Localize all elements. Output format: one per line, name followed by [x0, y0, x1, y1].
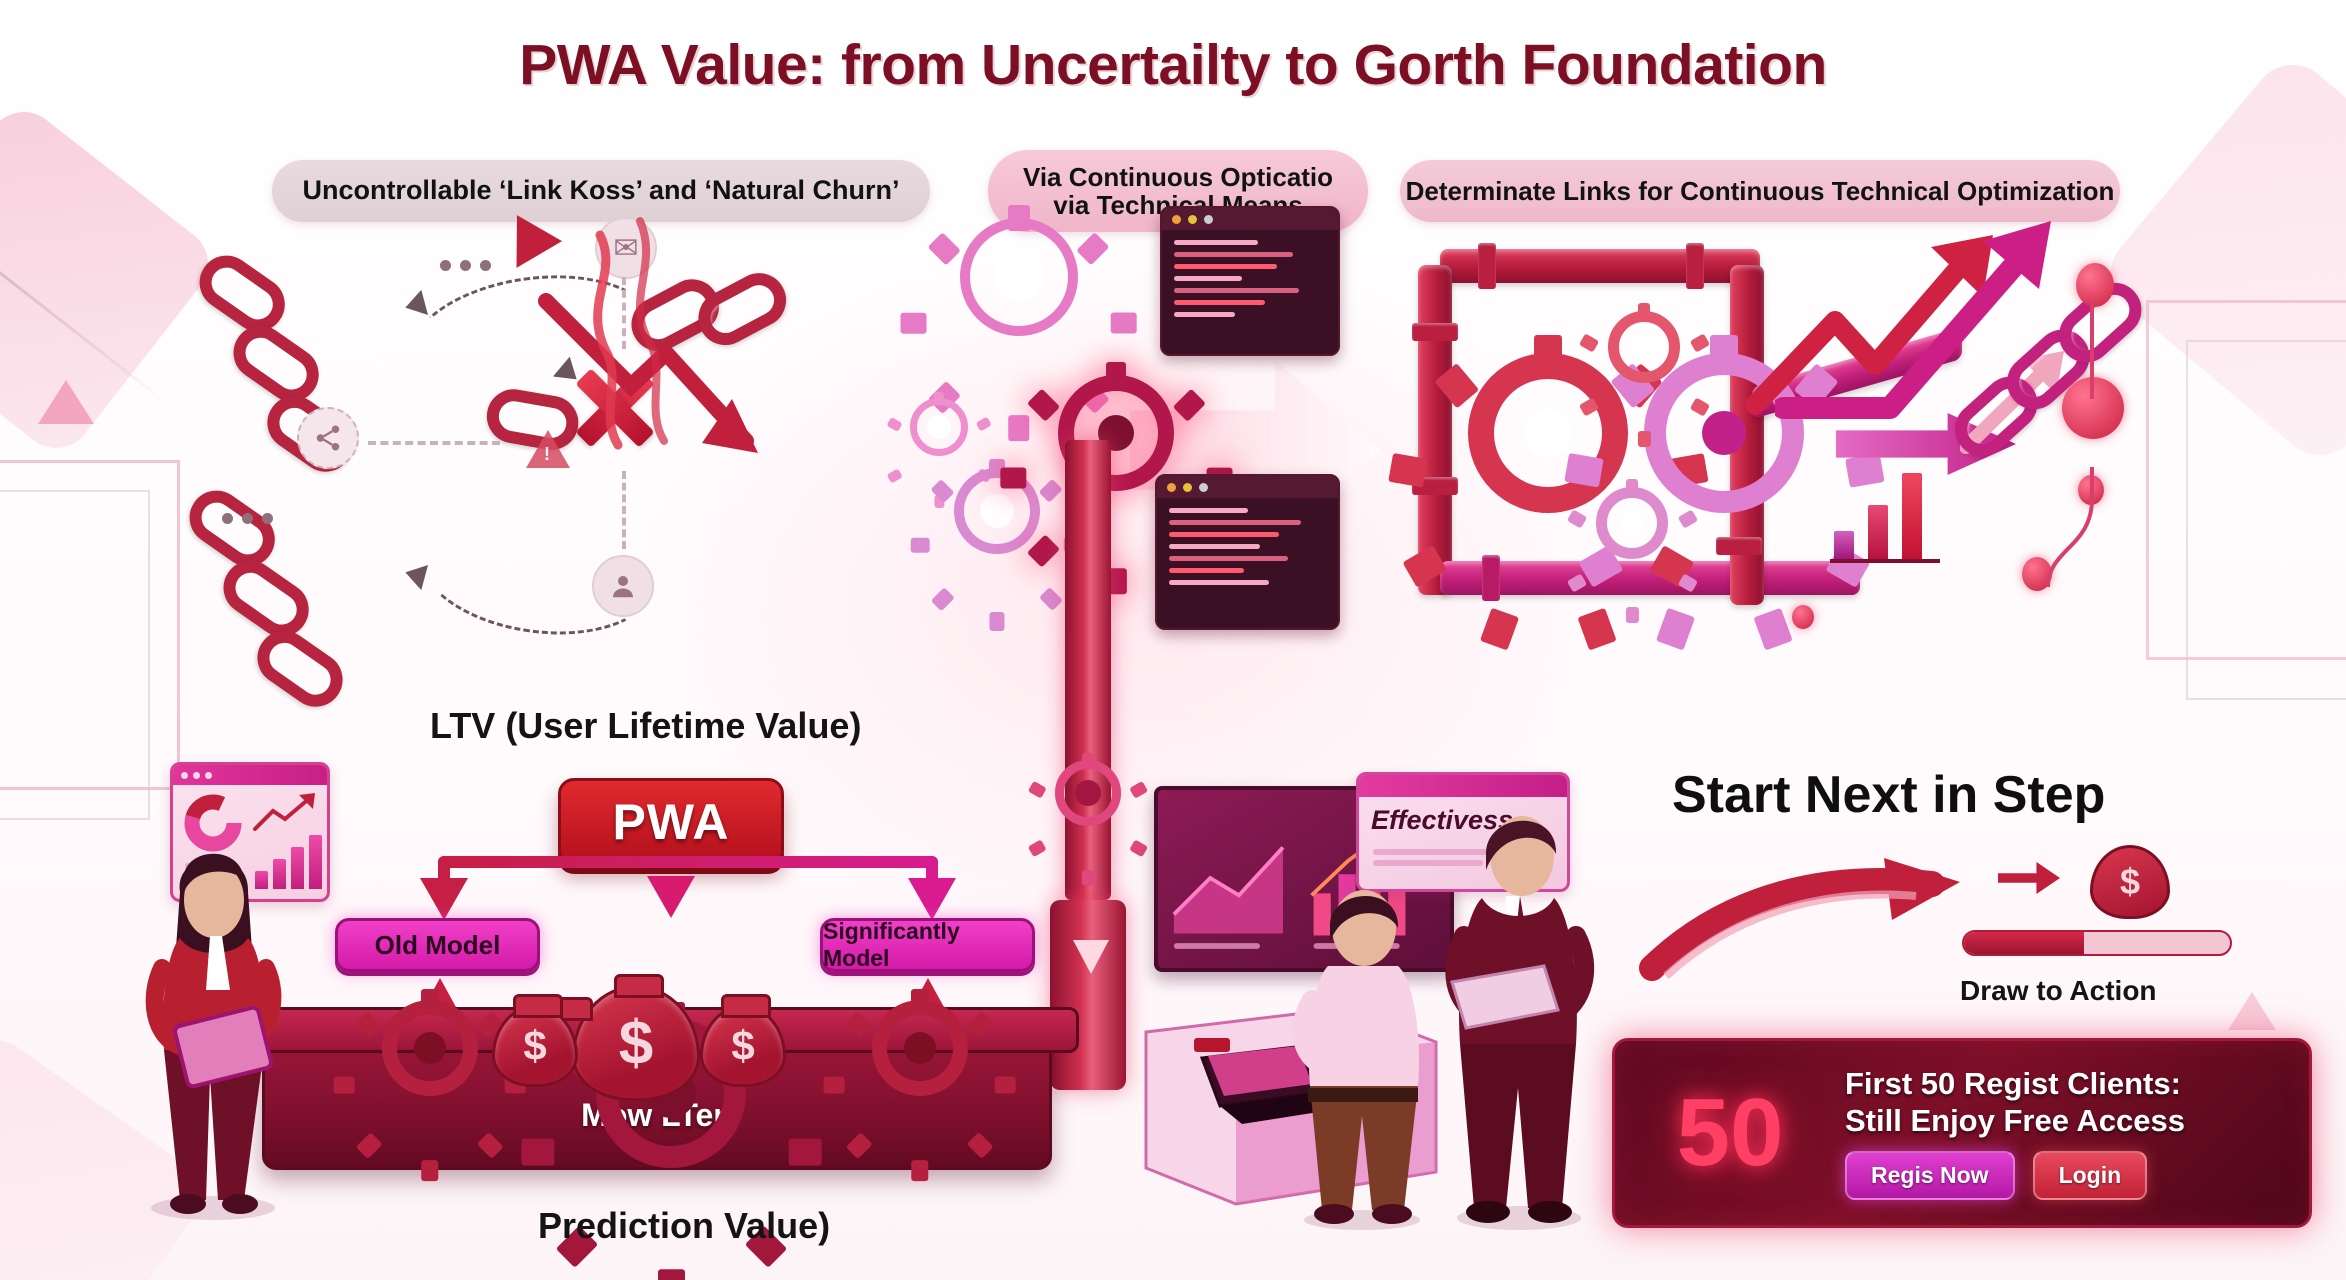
- mini-bar-chart: [1830, 473, 1940, 563]
- dashed-line-share: [368, 441, 500, 445]
- dashboard-titlebar: [173, 765, 327, 785]
- dashed-line-user: [622, 471, 626, 549]
- gear-right-small-top: [1608, 311, 1680, 383]
- share-icon: [297, 407, 359, 469]
- code-window-top-body: [1162, 230, 1338, 327]
- pipe-flange-3: [1412, 323, 1458, 341]
- panel-bar-4: [309, 835, 322, 889]
- decorative-triangle-left: [38, 380, 94, 424]
- code-window-bottom-body: [1157, 498, 1338, 595]
- dots-indicator-left: [222, 513, 273, 524]
- infographic-canvas: PWA Value: from Uncertailty to Gorth Fou…: [0, 0, 2346, 1280]
- progress-label: Draw to Action: [1960, 975, 2157, 1007]
- effectiveness-card-titlebar: [1359, 775, 1567, 797]
- pipe-flange-5: [1482, 555, 1500, 601]
- cta-line-2: Still Enjoy Free Access: [1845, 1103, 2291, 1140]
- decorative-quad-top-right: [2095, 49, 2346, 472]
- register-now-button[interactable]: Regis Now: [1845, 1151, 2015, 1200]
- churn-flames: [560, 215, 700, 455]
- gear-right-large: [1468, 353, 1628, 513]
- money-flow-arrow: [1998, 862, 2060, 894]
- pill-uncontrollable: Uncontrollable ‘Link Koss’ and ‘Natural …: [272, 160, 930, 222]
- manager-person-illustration: [1424, 800, 1614, 1230]
- cta-line-1: First 50 Regist Clients:: [1845, 1066, 2291, 1103]
- pill-determinate-label: Determinate Links for Continuous Technic…: [1406, 177, 2115, 205]
- pill-uncontrollable-label: Uncontrollable ‘Link Koss’ and ‘Natural …: [302, 176, 899, 205]
- money-bag-left-symbol: $: [523, 1022, 546, 1070]
- pwa-box: PWA: [558, 778, 784, 866]
- gear-small-left: [910, 398, 968, 456]
- cta-swoosh-arrow: [1636, 856, 1966, 986]
- decorative-hexagon-left-2: [0, 490, 150, 820]
- old-model-box: Old Model: [335, 918, 540, 972]
- decline-arrow-upper: [494, 215, 562, 281]
- flow-arrow-right: [908, 878, 956, 920]
- pipe-bottom: [1440, 561, 1860, 595]
- old-model-label: Old Model: [375, 930, 501, 961]
- decorative-quad-top-left: [0, 98, 222, 463]
- code-window-bottom: [1155, 474, 1340, 630]
- pipe-flange-6: [1716, 537, 1762, 555]
- decorative-hexagon-right: [2146, 300, 2346, 660]
- dashed-arc-bottom: [410, 487, 666, 649]
- prediction-value-label: Prediction Value): [538, 1205, 830, 1247]
- flow-arrow-center: [647, 876, 695, 918]
- action-progress-bar[interactable]: [1962, 930, 2232, 956]
- glow-pipe-base: [1050, 900, 1126, 1090]
- mini-bar-2: [1868, 505, 1888, 559]
- money-bag-cta-symbol: $: [2120, 861, 2140, 903]
- pill-continuous-line1: Via Continuous Opticatio: [1023, 163, 1333, 191]
- page-title: PWA Value: from Uncertailty to Gorth Fou…: [0, 32, 2346, 98]
- gear-large-pink: [960, 218, 1078, 336]
- flow-arrow-left: [420, 878, 468, 920]
- money-bag-center-symbol: $: [619, 1008, 653, 1079]
- decorative-triangle-right: [2228, 992, 2276, 1030]
- significant-model-box: Significantly Model: [820, 918, 1035, 972]
- code-window-top: [1160, 206, 1340, 356]
- dashed-arrow-bottom: [402, 560, 428, 590]
- mini-bar-3: [1902, 473, 1922, 559]
- gear-right-small-bottom: [1596, 487, 1668, 559]
- gear-pipe-inline: [1055, 760, 1121, 826]
- code-window-bottom-titlebar: [1157, 476, 1338, 498]
- pipe-flow-arrow: [1073, 940, 1109, 974]
- flow-connector-horizontal: [438, 856, 938, 868]
- mini-bar-1: [1834, 531, 1854, 559]
- glow-pipe-vertical: [1065, 440, 1111, 900]
- cta-content: First 50 Regist Clients: Still Enjoy Fre…: [1845, 1066, 2309, 1200]
- platform-gear-right: [872, 1000, 968, 1096]
- pipe-flange-2: [1686, 243, 1704, 289]
- dashed-arrow-top: [402, 290, 428, 320]
- login-button[interactable]: Login: [2033, 1151, 2148, 1200]
- line-chart-icon: [251, 791, 321, 835]
- decorative-line-top-left: [0, 260, 167, 404]
- platform-gear-left: [382, 1000, 478, 1096]
- cta-buttons: Regis Now Login: [1845, 1151, 2291, 1200]
- share-glyph: [313, 423, 343, 453]
- node-connectors: [2000, 287, 2130, 607]
- cta-banner: 50 First 50 Regist Clients: Still Enjoy …: [1612, 1038, 2312, 1228]
- businesswoman-illustration: [118, 830, 308, 1220]
- decorative-hexagon-left: [0, 460, 180, 790]
- money-bag-right-symbol: $: [731, 1022, 754, 1070]
- node-dot-bottom: [1792, 605, 1814, 629]
- optimized-pipeline-illustration: [1400, 235, 2130, 675]
- pipe-flange-1: [1478, 243, 1496, 289]
- ltv-heading: LTV (User Lifetime Value): [430, 705, 861, 747]
- broken-links-illustration: ✉: [240, 235, 920, 655]
- warning-glyph: !: [544, 444, 550, 465]
- money-bag-cta: $: [2090, 845, 2170, 919]
- cta-badge-number: 50: [1615, 1078, 1845, 1188]
- dots-indicator-top: [440, 260, 491, 271]
- gear-medium-bottom: [954, 468, 1040, 554]
- significant-model-label: Significantly Model: [823, 918, 1032, 972]
- code-window-top-titlebar: [1162, 208, 1338, 230]
- pipe-left: [1418, 265, 1452, 595]
- action-progress-fill: [1964, 932, 2084, 954]
- decorative-hexagon-right-2: [2186, 340, 2346, 700]
- pwa-box-label: PWA: [613, 793, 730, 851]
- cta-heading: Start Next in Step: [1672, 765, 2105, 825]
